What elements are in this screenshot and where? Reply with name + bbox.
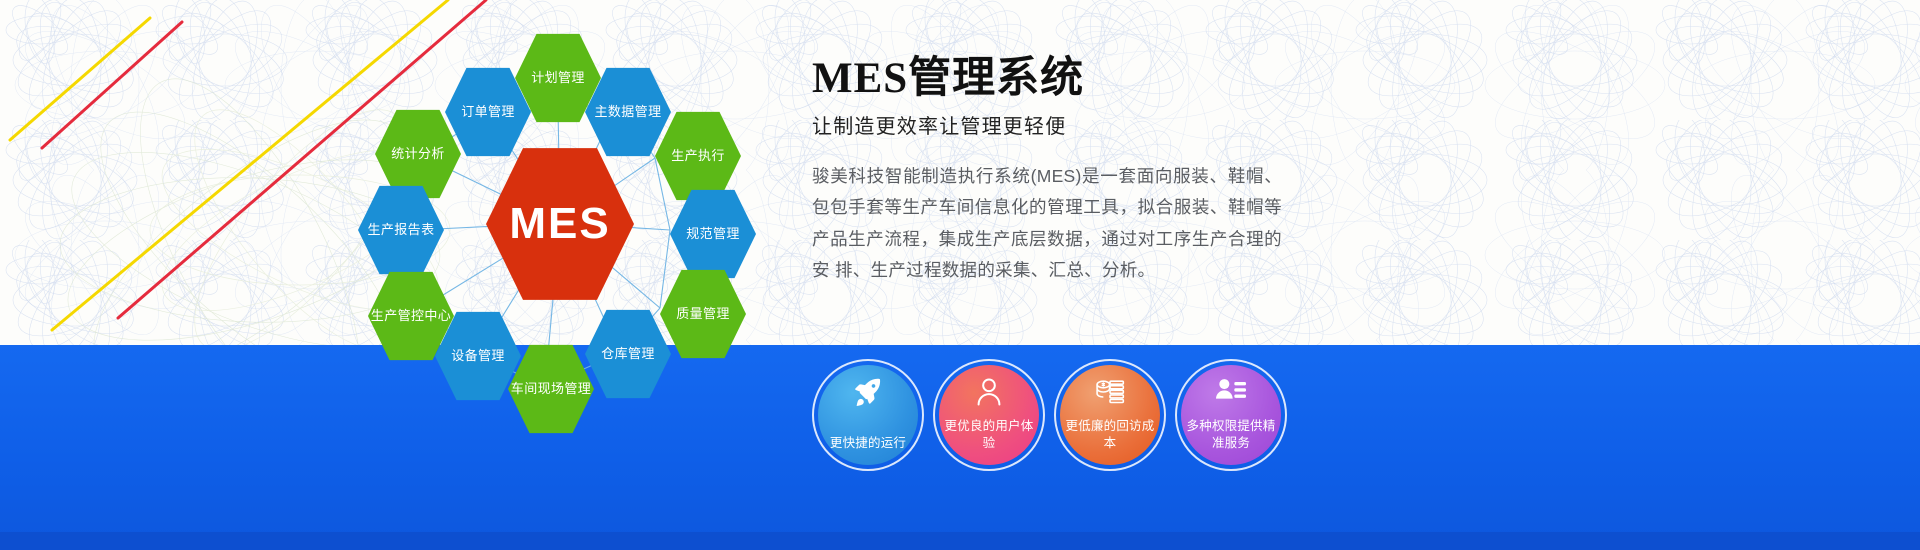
mes-banner: 计划管理 订单管理 主数据管理 统计分析 生产执行 生产报告表 规范管理 生产管… bbox=[0, 0, 1920, 550]
page-subtitle: 让制造更效率让管理更轻便 bbox=[812, 110, 1282, 139]
hex-label: 生产报告表 bbox=[367, 222, 434, 237]
banner-text-column: MES管理系统 让制造更效率让管理更轻便 骏美科技智能制造执行系统(MES)是一… bbox=[812, 55, 1282, 286]
hex-label: 统计分析 bbox=[391, 146, 445, 161]
hex-label: 订单管理 bbox=[461, 104, 515, 119]
hex-label: 质量管理 bbox=[676, 306, 730, 321]
user-icon bbox=[972, 377, 1006, 407]
hex-label: 设备管理 bbox=[451, 348, 505, 363]
user-list-icon bbox=[1214, 377, 1248, 407]
hex-center-label: MES bbox=[509, 198, 610, 250]
hex-label: 主数据管理 bbox=[594, 104, 661, 119]
coins-icon bbox=[1093, 377, 1127, 407]
feature-badge-cost[interactable]: 更低廉的回访成本 bbox=[1060, 365, 1160, 465]
feature-badge-experience[interactable]: 更优良的用户体验 bbox=[939, 365, 1039, 465]
hex-label: 仓库管理 bbox=[601, 346, 655, 361]
feature-badge-list: 更快捷的运行 更优良的用户体验 更低廉的回访成本 bbox=[818, 365, 1281, 465]
badge-label: 更低廉的回访成本 bbox=[1064, 418, 1156, 453]
rocket-icon bbox=[851, 377, 885, 407]
page-title: MES管理系统 bbox=[812, 55, 1282, 102]
hex-label: 生产执行 bbox=[671, 148, 725, 163]
hex-label: 生产管控中心 bbox=[371, 308, 451, 323]
badge-label: 更优良的用户体验 bbox=[943, 418, 1035, 453]
feature-badge-faster[interactable]: 更快捷的运行 bbox=[818, 365, 918, 465]
mes-hexagon-diagram: 计划管理 订单管理 主数据管理 统计分析 生产执行 生产报告表 规范管理 生产管… bbox=[330, 8, 790, 438]
page-description: 骏美科技智能制造执行系统(MES)是一套面向服装、鞋帽、包包手套等生产车间信息化… bbox=[812, 161, 1282, 286]
feature-badge-permission[interactable]: 多种权限提供精准服务 bbox=[1181, 365, 1281, 465]
hex-label: 规范管理 bbox=[686, 226, 740, 241]
badge-label: 多种权限提供精准服务 bbox=[1185, 418, 1277, 453]
hex-label: 车间现场管理 bbox=[511, 381, 591, 396]
hex-label: 计划管理 bbox=[531, 70, 585, 85]
bottom-blue-strip bbox=[0, 532, 1920, 550]
badge-label: 更快捷的运行 bbox=[822, 435, 914, 452]
